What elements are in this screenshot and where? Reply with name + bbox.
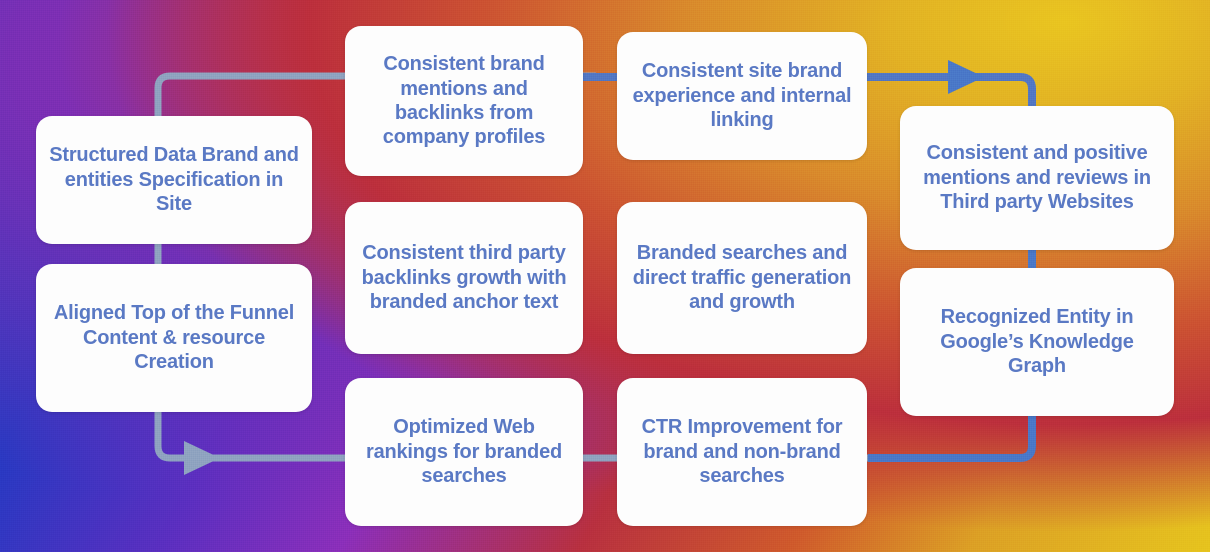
- node-label: CTR Improvement for brand and non-brand …: [627, 415, 857, 488]
- node-label: Consistent and positive mentions and rev…: [910, 141, 1164, 214]
- node-label: Optimized Web rankings for branded searc…: [355, 415, 573, 488]
- node-label: Consistent brand mentions and backlinks …: [355, 52, 573, 150]
- node-consistent-brand-mentions[interactable]: Consistent brand mentions and backlinks …: [345, 26, 583, 176]
- arrow-right-top-icon: [948, 60, 984, 94]
- node-label: Recognized Entity in Google’s Knowledge …: [910, 305, 1164, 378]
- node-branded-searches-direct-traffic[interactable]: Branded searches and direct traffic gene…: [617, 202, 867, 354]
- arrow-left-bottom-icon: [184, 441, 220, 475]
- node-consistent-third-party-backlinks[interactable]: Consistent third party backlinks growth …: [345, 202, 583, 354]
- node-consistent-positive-mentions[interactable]: Consistent and positive mentions and rev…: [900, 106, 1174, 250]
- node-recognized-entity-knowledge-graph[interactable]: Recognized Entity in Google’s Knowledge …: [900, 268, 1174, 416]
- node-label: Aligned Top of the Funnel Content & reso…: [46, 301, 302, 374]
- diagram-canvas: Structured Data Brand and entities Speci…: [0, 0, 1210, 552]
- node-aligned-top-funnel[interactable]: Aligned Top of the Funnel Content & reso…: [36, 264, 312, 412]
- node-label: Consistent site brand experience and int…: [627, 59, 857, 132]
- node-optimized-web-rankings[interactable]: Optimized Web rankings for branded searc…: [345, 378, 583, 526]
- node-consistent-site-brand-experience[interactable]: Consistent site brand experience and int…: [617, 32, 867, 160]
- node-structured-data-brand[interactable]: Structured Data Brand and entities Speci…: [36, 116, 312, 244]
- node-label: Structured Data Brand and entities Speci…: [46, 143, 302, 216]
- node-ctr-improvement[interactable]: CTR Improvement for brand and non-brand …: [617, 378, 867, 526]
- node-label: Consistent third party backlinks growth …: [355, 241, 573, 314]
- node-label: Branded searches and direct traffic gene…: [627, 241, 857, 314]
